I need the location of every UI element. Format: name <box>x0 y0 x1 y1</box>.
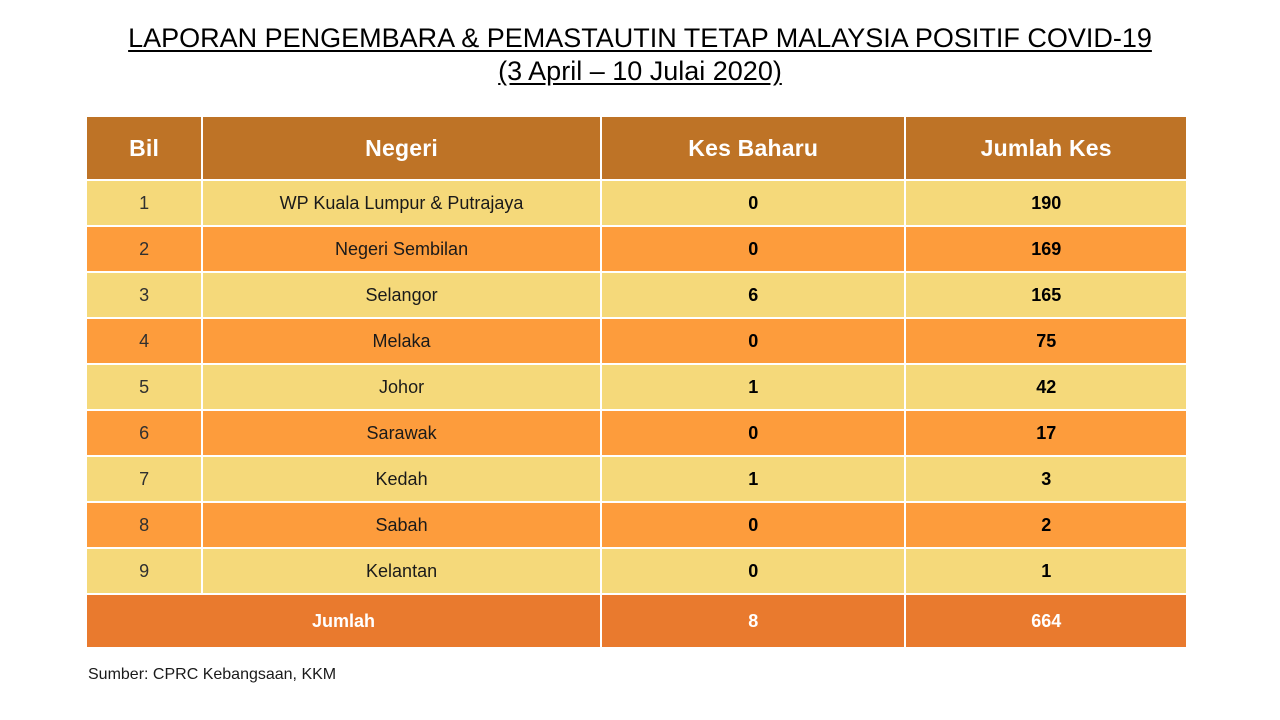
report-table: Bil Negeri Kes Baharu Jumlah Kes 1 WP Ku… <box>85 115 1188 649</box>
cell-jumlah-kes: 17 <box>906 411 1186 455</box>
table-row: 6 Sarawak 0 17 <box>87 411 1186 455</box>
cell-negeri: Sarawak <box>203 411 600 455</box>
cell-jumlah-kes: 75 <box>906 319 1186 363</box>
report-table-container: Bil Negeri Kes Baharu Jumlah Kes 1 WP Ku… <box>85 115 1188 649</box>
cell-jumlah-kes: 165 <box>906 273 1186 317</box>
cell-bil: 6 <box>87 411 201 455</box>
table-row: 5 Johor 1 42 <box>87 365 1186 409</box>
cell-kes-baharu: 1 <box>602 457 905 501</box>
cell-kes-baharu: 0 <box>602 181 905 225</box>
cell-negeri: Kedah <box>203 457 600 501</box>
cell-negeri: WP Kuala Lumpur & Putrajaya <box>203 181 600 225</box>
table-body: 1 WP Kuala Lumpur & Putrajaya 0 190 2 Ne… <box>87 181 1186 647</box>
cell-jumlah-kes: 1 <box>906 549 1186 593</box>
cell-kes-baharu: 0 <box>602 227 905 271</box>
cell-kes-baharu: 0 <box>602 411 905 455</box>
table-header: Bil Negeri Kes Baharu Jumlah Kes <box>87 117 1186 179</box>
cell-kes-baharu: 6 <box>602 273 905 317</box>
table-row: 4 Melaka 0 75 <box>87 319 1186 363</box>
source-note: Sumber: CPRC Kebangsaan, KKM <box>88 666 336 684</box>
cell-kes-baharu: 1 <box>602 365 905 409</box>
cell-kes-baharu: 0 <box>602 549 905 593</box>
title-line-2-text: (3 April – 10 Julai 2020) <box>498 56 782 86</box>
column-header-negeri: Negeri <box>203 117 600 179</box>
cell-negeri: Negeri Sembilan <box>203 227 600 271</box>
table-row: 2 Negeri Sembilan 0 169 <box>87 227 1186 271</box>
cell-kes-baharu: 0 <box>602 503 905 547</box>
total-jumlah-kes: 664 <box>906 595 1186 647</box>
cell-kes-baharu: 0 <box>602 319 905 363</box>
cell-jumlah-kes: 42 <box>906 365 1186 409</box>
cell-jumlah-kes: 3 <box>906 457 1186 501</box>
cell-negeri: Melaka <box>203 319 600 363</box>
total-label: Jumlah <box>87 595 600 647</box>
cell-negeri: Johor <box>203 365 600 409</box>
table-row: 9 Kelantan 0 1 <box>87 549 1186 593</box>
title-line-2: (3 April – 10 Julai 2020) <box>0 55 1280 88</box>
cell-negeri: Kelantan <box>203 549 600 593</box>
table-row: 7 Kedah 1 3 <box>87 457 1186 501</box>
table-total-row: Jumlah 8 664 <box>87 595 1186 647</box>
column-header-bil: Bil <box>87 117 201 179</box>
table-row: 8 Sabah 0 2 <box>87 503 1186 547</box>
cell-bil: 9 <box>87 549 201 593</box>
cell-bil: 1 <box>87 181 201 225</box>
page-title: LAPORAN PENGEMBARA & PEMASTAUTIN TETAP M… <box>0 0 1280 88</box>
cell-bil: 5 <box>87 365 201 409</box>
table-header-row: Bil Negeri Kes Baharu Jumlah Kes <box>87 117 1186 179</box>
table-row: 1 WP Kuala Lumpur & Putrajaya 0 190 <box>87 181 1186 225</box>
cell-bil: 4 <box>87 319 201 363</box>
total-kes-baharu: 8 <box>602 595 905 647</box>
cell-bil: 2 <box>87 227 201 271</box>
cell-bil: 7 <box>87 457 201 501</box>
cell-negeri: Sabah <box>203 503 600 547</box>
cell-bil: 8 <box>87 503 201 547</box>
title-line-1-text: LAPORAN PENGEMBARA & PEMASTAUTIN TETAP M… <box>128 23 1152 53</box>
table-row: 3 Selangor 6 165 <box>87 273 1186 317</box>
title-line-1: LAPORAN PENGEMBARA & PEMASTAUTIN TETAP M… <box>0 22 1280 55</box>
cell-jumlah-kes: 190 <box>906 181 1186 225</box>
cell-bil: 3 <box>87 273 201 317</box>
cell-jumlah-kes: 169 <box>906 227 1186 271</box>
cell-negeri: Selangor <box>203 273 600 317</box>
column-header-kes-baharu: Kes Baharu <box>602 117 905 179</box>
cell-jumlah-kes: 2 <box>906 503 1186 547</box>
column-header-jumlah-kes: Jumlah Kes <box>906 117 1186 179</box>
